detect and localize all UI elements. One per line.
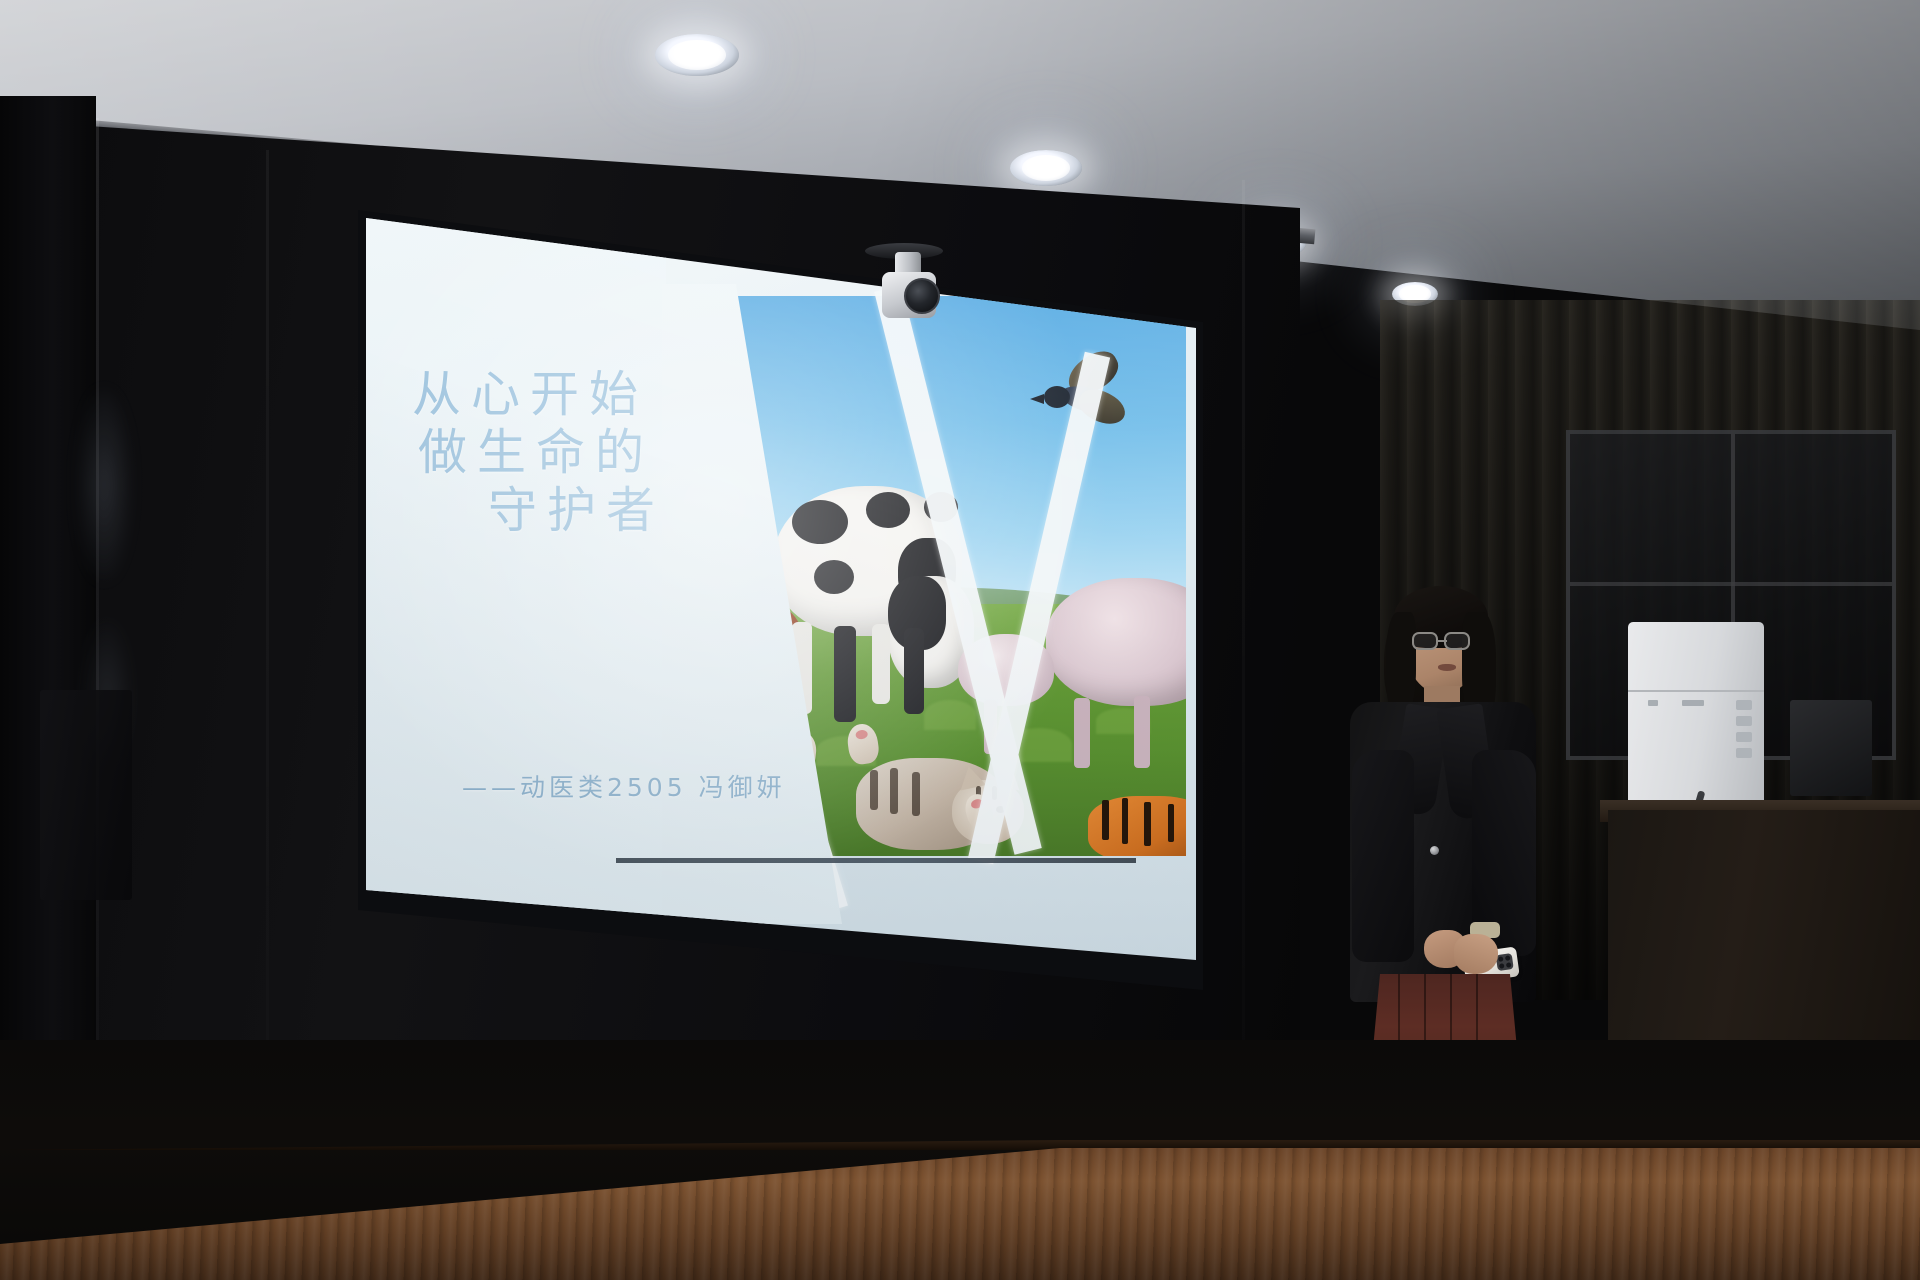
presenter-hand-right [1454,934,1498,974]
glasses-icon-right [1444,632,1470,650]
coat-button-2 [1430,846,1439,855]
camera-lens-icon [904,278,940,314]
cabinet-controls-4[interactable] [1736,748,1752,758]
wall-seam-3 [1242,180,1245,1080]
slide-title-line-3: 守护者 [488,482,792,540]
cabinet-badge-2 [1682,700,1704,706]
wall-seam-2 [266,150,269,1080]
lecture-hall-scene: 从心开始 做生命的 守护者 ——动医类2505 冯御妍 [0,0,1920,1280]
cabinet-seam [1628,690,1764,692]
slide-title: 从心开始 做生命的 守护者 [412,366,792,539]
floor-speaker [40,690,132,900]
wall-sheen-1 [78,390,130,580]
glasses-bridge [1438,640,1447,642]
wall-seam-1 [96,118,99,1078]
photo-animal-tiger [1088,796,1186,856]
downlight-icon-2 [1010,150,1082,186]
slide-title-line-2: 做生命的 [418,424,792,482]
presenter-arm-left [1352,750,1414,962]
left-wall-column [0,96,96,1086]
slide-bottom-rule [616,858,1136,863]
slide-left-panel [366,218,666,918]
cabinet-controls[interactable] [1736,700,1752,710]
presentation-slide: 从心开始 做生命的 守护者 ——动医类2505 冯御妍 [366,218,1196,973]
phone-camera-icon [1496,953,1514,971]
cabinet-controls-2[interactable] [1736,716,1752,726]
slide-subtitle: ——动医类2505 冯御妍 [462,768,932,804]
slide-title-line-1: 从心开始 [412,366,792,424]
projection-screen[interactable]: 从心开始 做生命的 守护者 ——动医类2505 冯御妍 [366,218,1196,973]
cabinet-controls-3[interactable] [1736,732,1752,742]
glasses-icon-left [1412,632,1438,650]
photo-animal-sheep [1046,578,1186,706]
cabinet-badge-1 [1648,700,1658,706]
downlight-icon-1 [655,34,739,76]
presenter-mouth [1438,664,1456,671]
podium-monitor [1790,700,1872,796]
